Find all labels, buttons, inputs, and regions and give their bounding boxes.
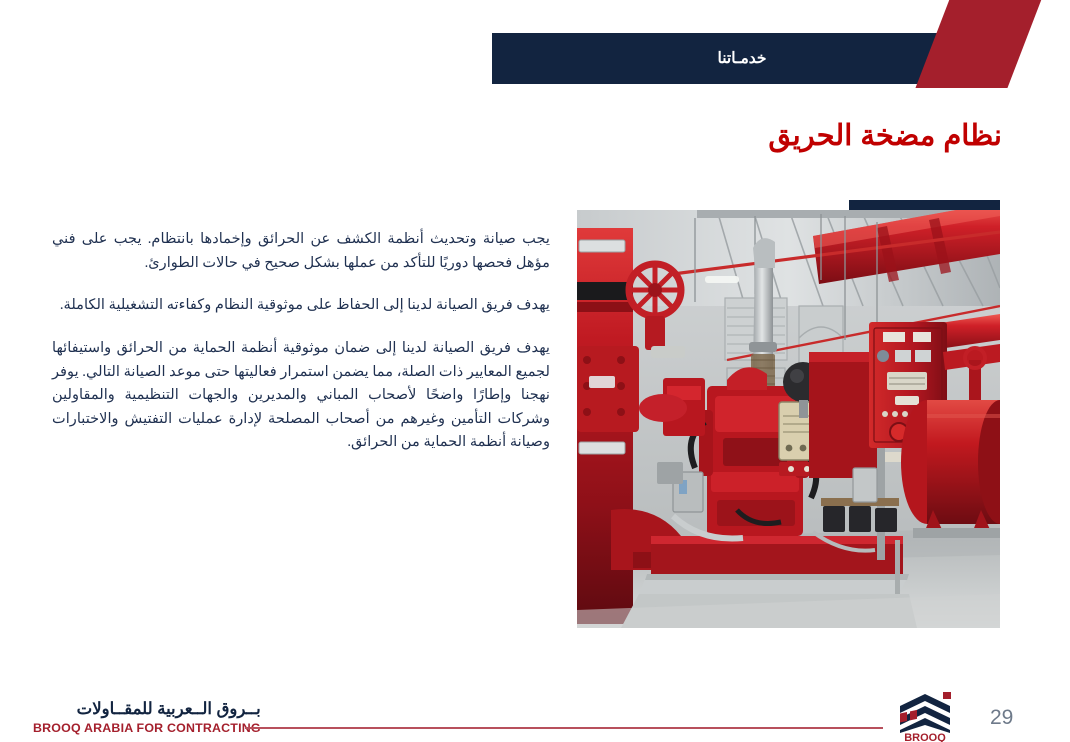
body-text-column: يجب صيانة وتحديث أنظمة الكشف عن الحرائق … [52, 228, 550, 455]
footer-company-name-arabic: بــروق الــعربية للمقــاولات [33, 700, 261, 719]
slide-canvas: خدمـاتنا نظام مضخة الحريق يجب صيانة وتحد… [0, 0, 1070, 742]
section-banner: خدمـاتنا [492, 33, 992, 84]
banner-red-accent-shape [915, 0, 1042, 88]
footer-brand: بــروق الــعربية للمقــاولات BROOQ ARABI… [33, 700, 261, 735]
body-paragraph: يهدف فريق الصيانة لدينا إلى الحفاظ على م… [52, 294, 550, 318]
brooq-logo: BROOQ [888, 692, 962, 742]
brooq-logo-wordmark: BROOQ [904, 732, 946, 742]
fire-pump-room-illustration [577, 210, 1000, 628]
page-number: 29 [990, 706, 1013, 730]
footer-company-name-english: BROOQ ARABIA FOR CONTRACTING [33, 721, 261, 735]
body-paragraph: يجب صيانة وتحديث أنظمة الكشف عن الحرائق … [52, 228, 550, 275]
body-paragraph: يهدف فريق الصيانة لدينا إلى ضمان موثوقية… [52, 337, 550, 455]
brooq-logo-mark: BROOQ [888, 692, 962, 742]
fire-pump-room-photo [577, 210, 1000, 628]
section-banner-label: خدمـاتنا [492, 33, 992, 84]
page-title: نظام مضخة الحريق [768, 118, 1002, 153]
footer-divider-rule [245, 727, 883, 729]
